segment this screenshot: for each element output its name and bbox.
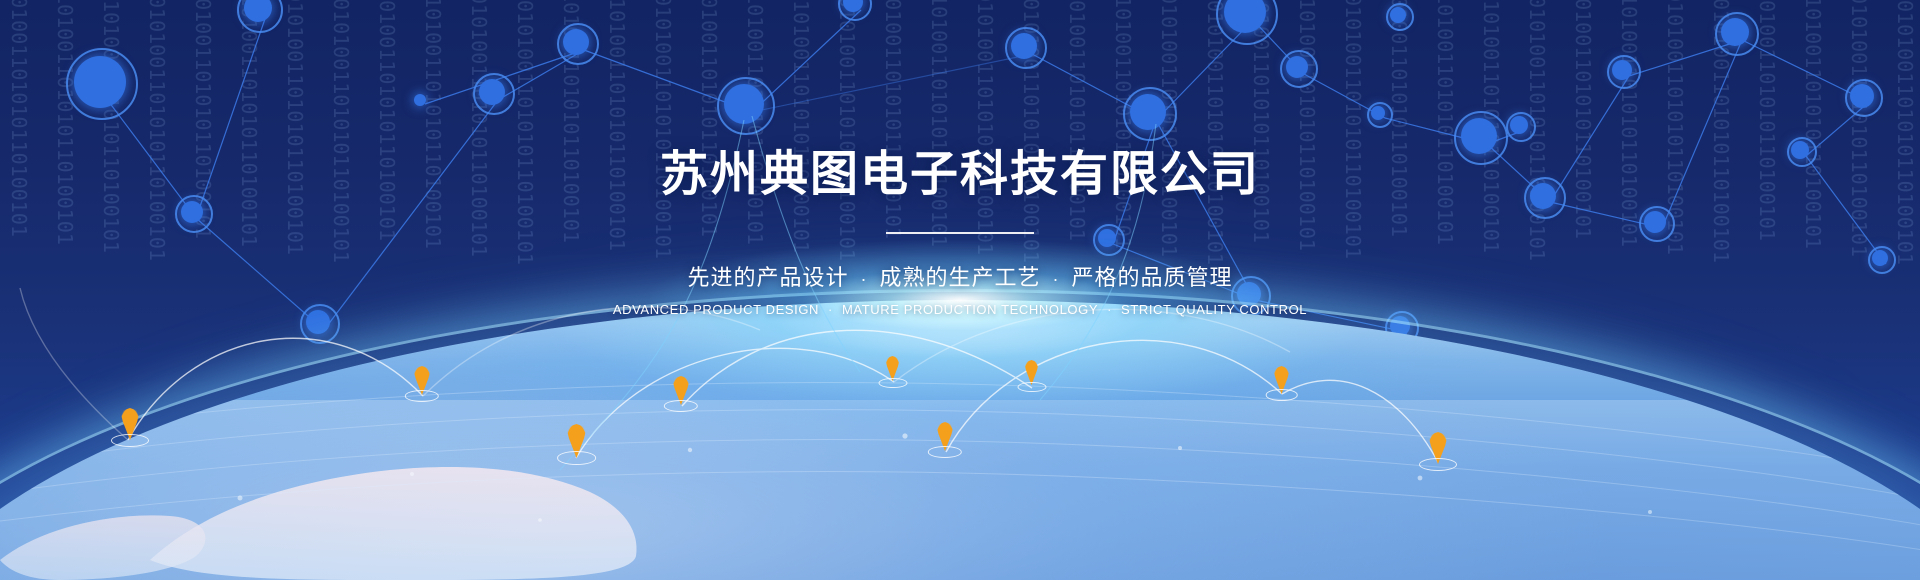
pin-base-ring [557, 451, 597, 465]
pin-base-ring [1017, 382, 1046, 393]
location-pin-icon [1428, 432, 1448, 464]
subtitle-separator: · [1053, 269, 1060, 289]
pin-base-ring [878, 378, 907, 389]
location-pin-icon [120, 408, 140, 440]
location-pin-icon [1273, 366, 1290, 394]
subtitle-chinese: 先进的产品设计·成熟的生产工艺·严格的品质管理 [0, 260, 1920, 292]
hero-banner: 0101001101010110100101010100110101011010… [0, 0, 1920, 580]
location-pin-icon [413, 366, 431, 395]
subtitle-separator: · [1107, 302, 1112, 317]
pin-base-ring [1419, 458, 1457, 471]
pin-base-ring [405, 390, 439, 402]
pin-base-ring [664, 400, 698, 412]
location-pin-icon [672, 376, 690, 405]
subtitle-separator: · [828, 302, 833, 317]
pin-base-ring [928, 446, 962, 458]
pin-base-ring [111, 434, 149, 447]
location-pin-icon [885, 356, 900, 381]
subtitle-part: STRICT QUALITY CONTROL [1121, 302, 1307, 317]
banner-content: 苏州典图电子科技有限公司 先进的产品设计·成熟的生产工艺·严格的品质管理 ADV… [0, 0, 1920, 317]
subtitle-part: 严格的品质管理 [1072, 265, 1233, 290]
title-divider [886, 232, 1034, 234]
subtitle-part: 先进的产品设计 [687, 265, 848, 290]
pin-base-ring [1265, 389, 1298, 401]
location-pin-icon [566, 424, 587, 458]
subtitle-part: MATURE PRODUCTION TECHNOLOGY [842, 302, 1098, 317]
subtitle-part: 成熟的生产工艺 [879, 265, 1040, 290]
location-pin-icon [1024, 360, 1039, 385]
subtitle-english: ADVANCED PRODUCT DESIGN·MATURE PRODUCTIO… [0, 302, 1920, 317]
page-title: 苏州典图电子科技有限公司 [0, 0, 1920, 204]
location-pin-icon [936, 422, 954, 451]
subtitle-part: ADVANCED PRODUCT DESIGN [613, 302, 819, 317]
subtitle-separator: · [860, 269, 867, 289]
